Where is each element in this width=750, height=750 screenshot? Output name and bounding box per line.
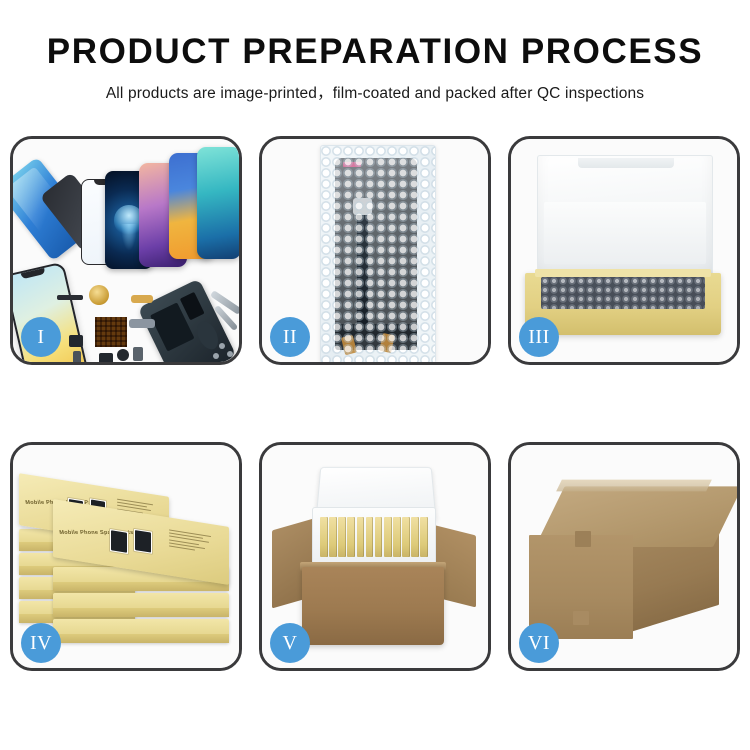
misc-small-parts xyxy=(69,331,149,362)
product-preparation-infographic: PRODUCT PREPARATION PROCESS All products… xyxy=(0,0,750,750)
screw-part xyxy=(213,353,219,359)
flex-cable-part xyxy=(131,295,153,303)
carton-flap-tab xyxy=(575,531,591,547)
screw-part xyxy=(227,351,233,357)
step-badge-2: II xyxy=(270,317,310,357)
page-title: PRODUCT PREPARATION PROCESS xyxy=(0,34,750,71)
teal-gradient-phone xyxy=(197,147,239,259)
step-badge-4: IV xyxy=(21,623,61,663)
header: PRODUCT PREPARATION PROCESS All products… xyxy=(0,0,750,103)
step-badge-5: V xyxy=(270,623,310,663)
flex-cable-strip xyxy=(357,212,368,324)
gold-connector xyxy=(379,333,394,353)
earpiece-speaker-part xyxy=(57,295,83,300)
step-panel-6: VI xyxy=(508,442,740,671)
lcd-screen-assembly xyxy=(335,158,417,338)
page-subtitle: All products are image-printed，film-coat… xyxy=(0,81,750,103)
step-badge-6: VI xyxy=(519,623,559,663)
step-panel-1: I xyxy=(10,136,242,365)
step-badge-3: III xyxy=(519,317,559,357)
process-steps-grid: I II xyxy=(10,136,740,671)
step-panel-3: III xyxy=(508,136,740,365)
step-badge-1: I xyxy=(21,317,61,357)
white-foam-lid xyxy=(537,155,713,279)
carton-body xyxy=(302,567,444,645)
yellow-boxes-inside xyxy=(320,517,428,557)
step-panel-2: II xyxy=(259,136,491,365)
flex-cable-part-2 xyxy=(129,319,155,328)
carton-flap-tab xyxy=(573,611,589,625)
packing-tape xyxy=(556,480,712,492)
bubble-wrap-bag xyxy=(320,145,436,362)
step-panel-4: Mobile Phone Spare Parts Mobile Phone Sp… xyxy=(10,442,242,671)
screw-part xyxy=(219,343,225,349)
bubble-wrapped-contents xyxy=(541,277,705,309)
step-panel-5: V xyxy=(259,442,491,671)
copper-coil-part xyxy=(89,285,109,305)
